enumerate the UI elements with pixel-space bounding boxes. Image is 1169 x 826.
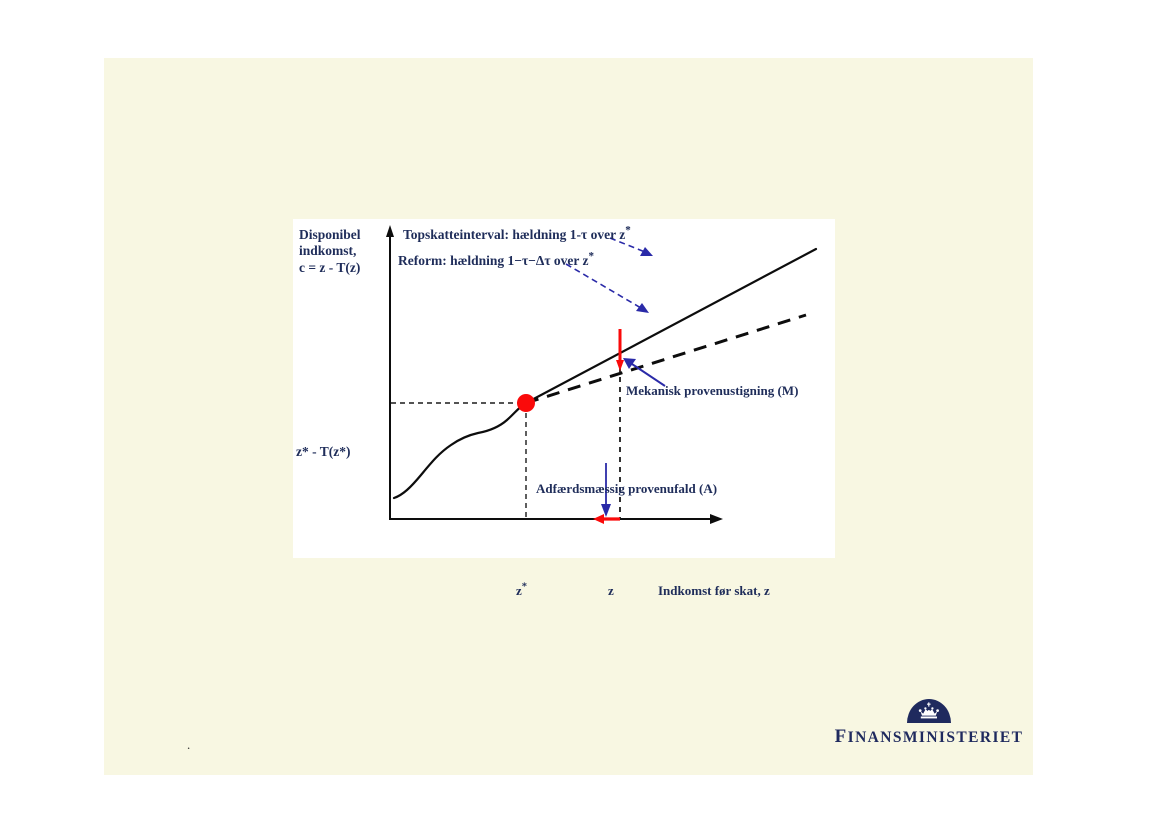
x-tick-label-zstar: z* (516, 583, 527, 599)
y-axis-title-line1: Disponibel (299, 227, 361, 243)
x-axis-title: Indkomst før skat, z (658, 583, 770, 599)
logo-wordmark-rest: INANSMINISTERIET (848, 729, 1024, 746)
mechanical-revenue-segment (616, 329, 624, 371)
annotation-topskatteinterval: Topskatteinterval: hældning 1-τ over z* (403, 227, 631, 243)
x-tick-label-z: z (608, 583, 614, 599)
y-axis-title-line3: c = z - T(z) (299, 260, 361, 276)
annotation-mechanical-revenue: Mekanisk provenustigning (M) (626, 383, 798, 399)
y-axis (386, 225, 394, 519)
reform-leader-arrow (566, 264, 649, 313)
y-tick-label: z* - T(z*) (296, 444, 350, 460)
logo-wordmark: FINANSMINISTERIET (829, 726, 1029, 748)
annotation-behavioural-loss: Adfærdsmæssig provenufald (A) (536, 481, 717, 497)
kink-point-marker (517, 394, 535, 412)
chart-panel: Disponibel indkomst, c = z - T(z) Topska… (293, 219, 835, 558)
annotation-reform-text: Reform: hældning 1−τ−Δτ over z (398, 253, 589, 268)
annotation-topskatteinterval-star: * (625, 225, 631, 237)
y-axis-title: Disponibel indkomst, c = z - T(z) (299, 227, 361, 276)
y-axis-title-line2: indkomst, (299, 243, 361, 259)
crown-dome-icon (906, 698, 952, 723)
x-tick-label-zstar-star: * (522, 582, 527, 593)
annotation-topskatteinterval-text: Topskatteinterval: hældning 1-τ over z (403, 227, 625, 242)
slide-canvas: . (104, 58, 1033, 775)
finansministeriet-logo: FINANSMINISTERIET (829, 698, 1029, 760)
annotation-reform: Reform: hældning 1−τ−Δτ over z* (398, 253, 594, 269)
logo-wordmark-initial: F (835, 726, 848, 747)
stray-mark: . (187, 738, 190, 751)
annotation-reform-star: * (589, 251, 595, 263)
x-axis (389, 514, 723, 524)
